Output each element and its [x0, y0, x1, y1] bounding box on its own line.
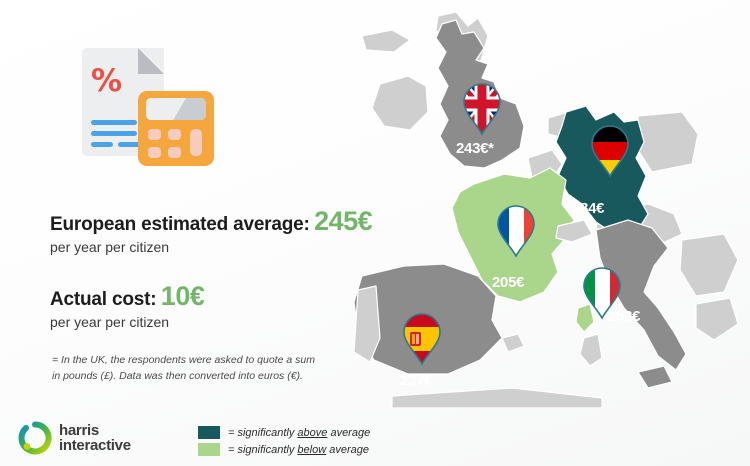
invoice-calculator-illustration: %	[78, 48, 218, 166]
map-label-france: 205€	[492, 274, 524, 291]
stat-value: 10€	[161, 281, 205, 311]
logo-line-1: harris	[59, 423, 131, 438]
country-shape-other	[680, 234, 738, 296]
calculator-key	[148, 129, 161, 140]
calculator-icon	[138, 91, 214, 166]
country-shape-other	[362, 30, 410, 52]
country-shape-other	[372, 76, 428, 130]
logo-line-2: interactive	[59, 438, 131, 453]
country-shape-sicily	[638, 366, 672, 388]
document-text-line	[91, 120, 137, 125]
calculator-key	[168, 129, 181, 140]
document-text-line	[91, 142, 113, 147]
country-shape-other	[638, 112, 698, 172]
legend-label-below: = significantly below average	[228, 444, 369, 456]
country-shape-other	[502, 334, 524, 352]
harris-interactive-logo: harris interactive	[18, 421, 131, 455]
harris-ring-icon	[18, 421, 52, 455]
germany-flag-pin[interactable]	[588, 124, 632, 178]
calculator-key	[148, 147, 161, 158]
france-flag-pin[interactable]	[494, 204, 538, 258]
calculator-screen	[146, 98, 206, 120]
map-label-germany: 284€	[572, 200, 604, 217]
document-text-line	[118, 142, 140, 147]
legend-item-above-average: = significantly above average	[198, 424, 370, 441]
stat-subtitle: per year per citizen	[50, 239, 400, 255]
map-label-italy: 253€	[608, 308, 640, 325]
stats-block: European estimated average: 245€ per yea…	[50, 206, 400, 330]
footnote: = In the UK, the respondents were asked …	[52, 352, 317, 385]
calculator-key	[168, 147, 181, 158]
stat-label: Actual cost:	[50, 289, 156, 310]
legend: = significantly above average = signific…	[198, 424, 370, 458]
legend-item-below-average: = significantly below average	[198, 441, 370, 458]
legend-swatch-above	[198, 426, 220, 439]
country-shape-other	[696, 298, 738, 340]
percent-icon: %	[91, 66, 122, 97]
map-label-spain: 237€	[400, 372, 432, 389]
document-text-line	[91, 131, 137, 136]
logo-text: harris interactive	[59, 423, 131, 454]
europe-choropleth-map: 243€* 284€ 205€ 253€ 237€	[352, 8, 750, 408]
spain-coat-of-arms	[410, 332, 421, 346]
stat-european-average: European estimated average: 245€ per yea…	[50, 206, 400, 255]
legend-label-above: = significantly above average	[228, 427, 370, 439]
stat-label: European estimated average:	[50, 214, 310, 235]
infographic-canvas: % European estimated average: 245€ per y…	[0, 0, 750, 466]
spain-flag-pin[interactable]	[400, 312, 444, 366]
country-shape-other	[580, 334, 602, 366]
legend-swatch-below	[198, 443, 220, 456]
calculator-key-tall	[190, 129, 202, 156]
country-shape-other	[392, 388, 602, 408]
uk-flag-pin[interactable]	[460, 82, 504, 136]
map-label-united-kingdom: 243€*	[456, 140, 494, 157]
stat-subtitle: per year per citizen	[50, 314, 400, 330]
stat-actual-cost: Actual cost: 10€ per year per citizen	[50, 281, 400, 330]
